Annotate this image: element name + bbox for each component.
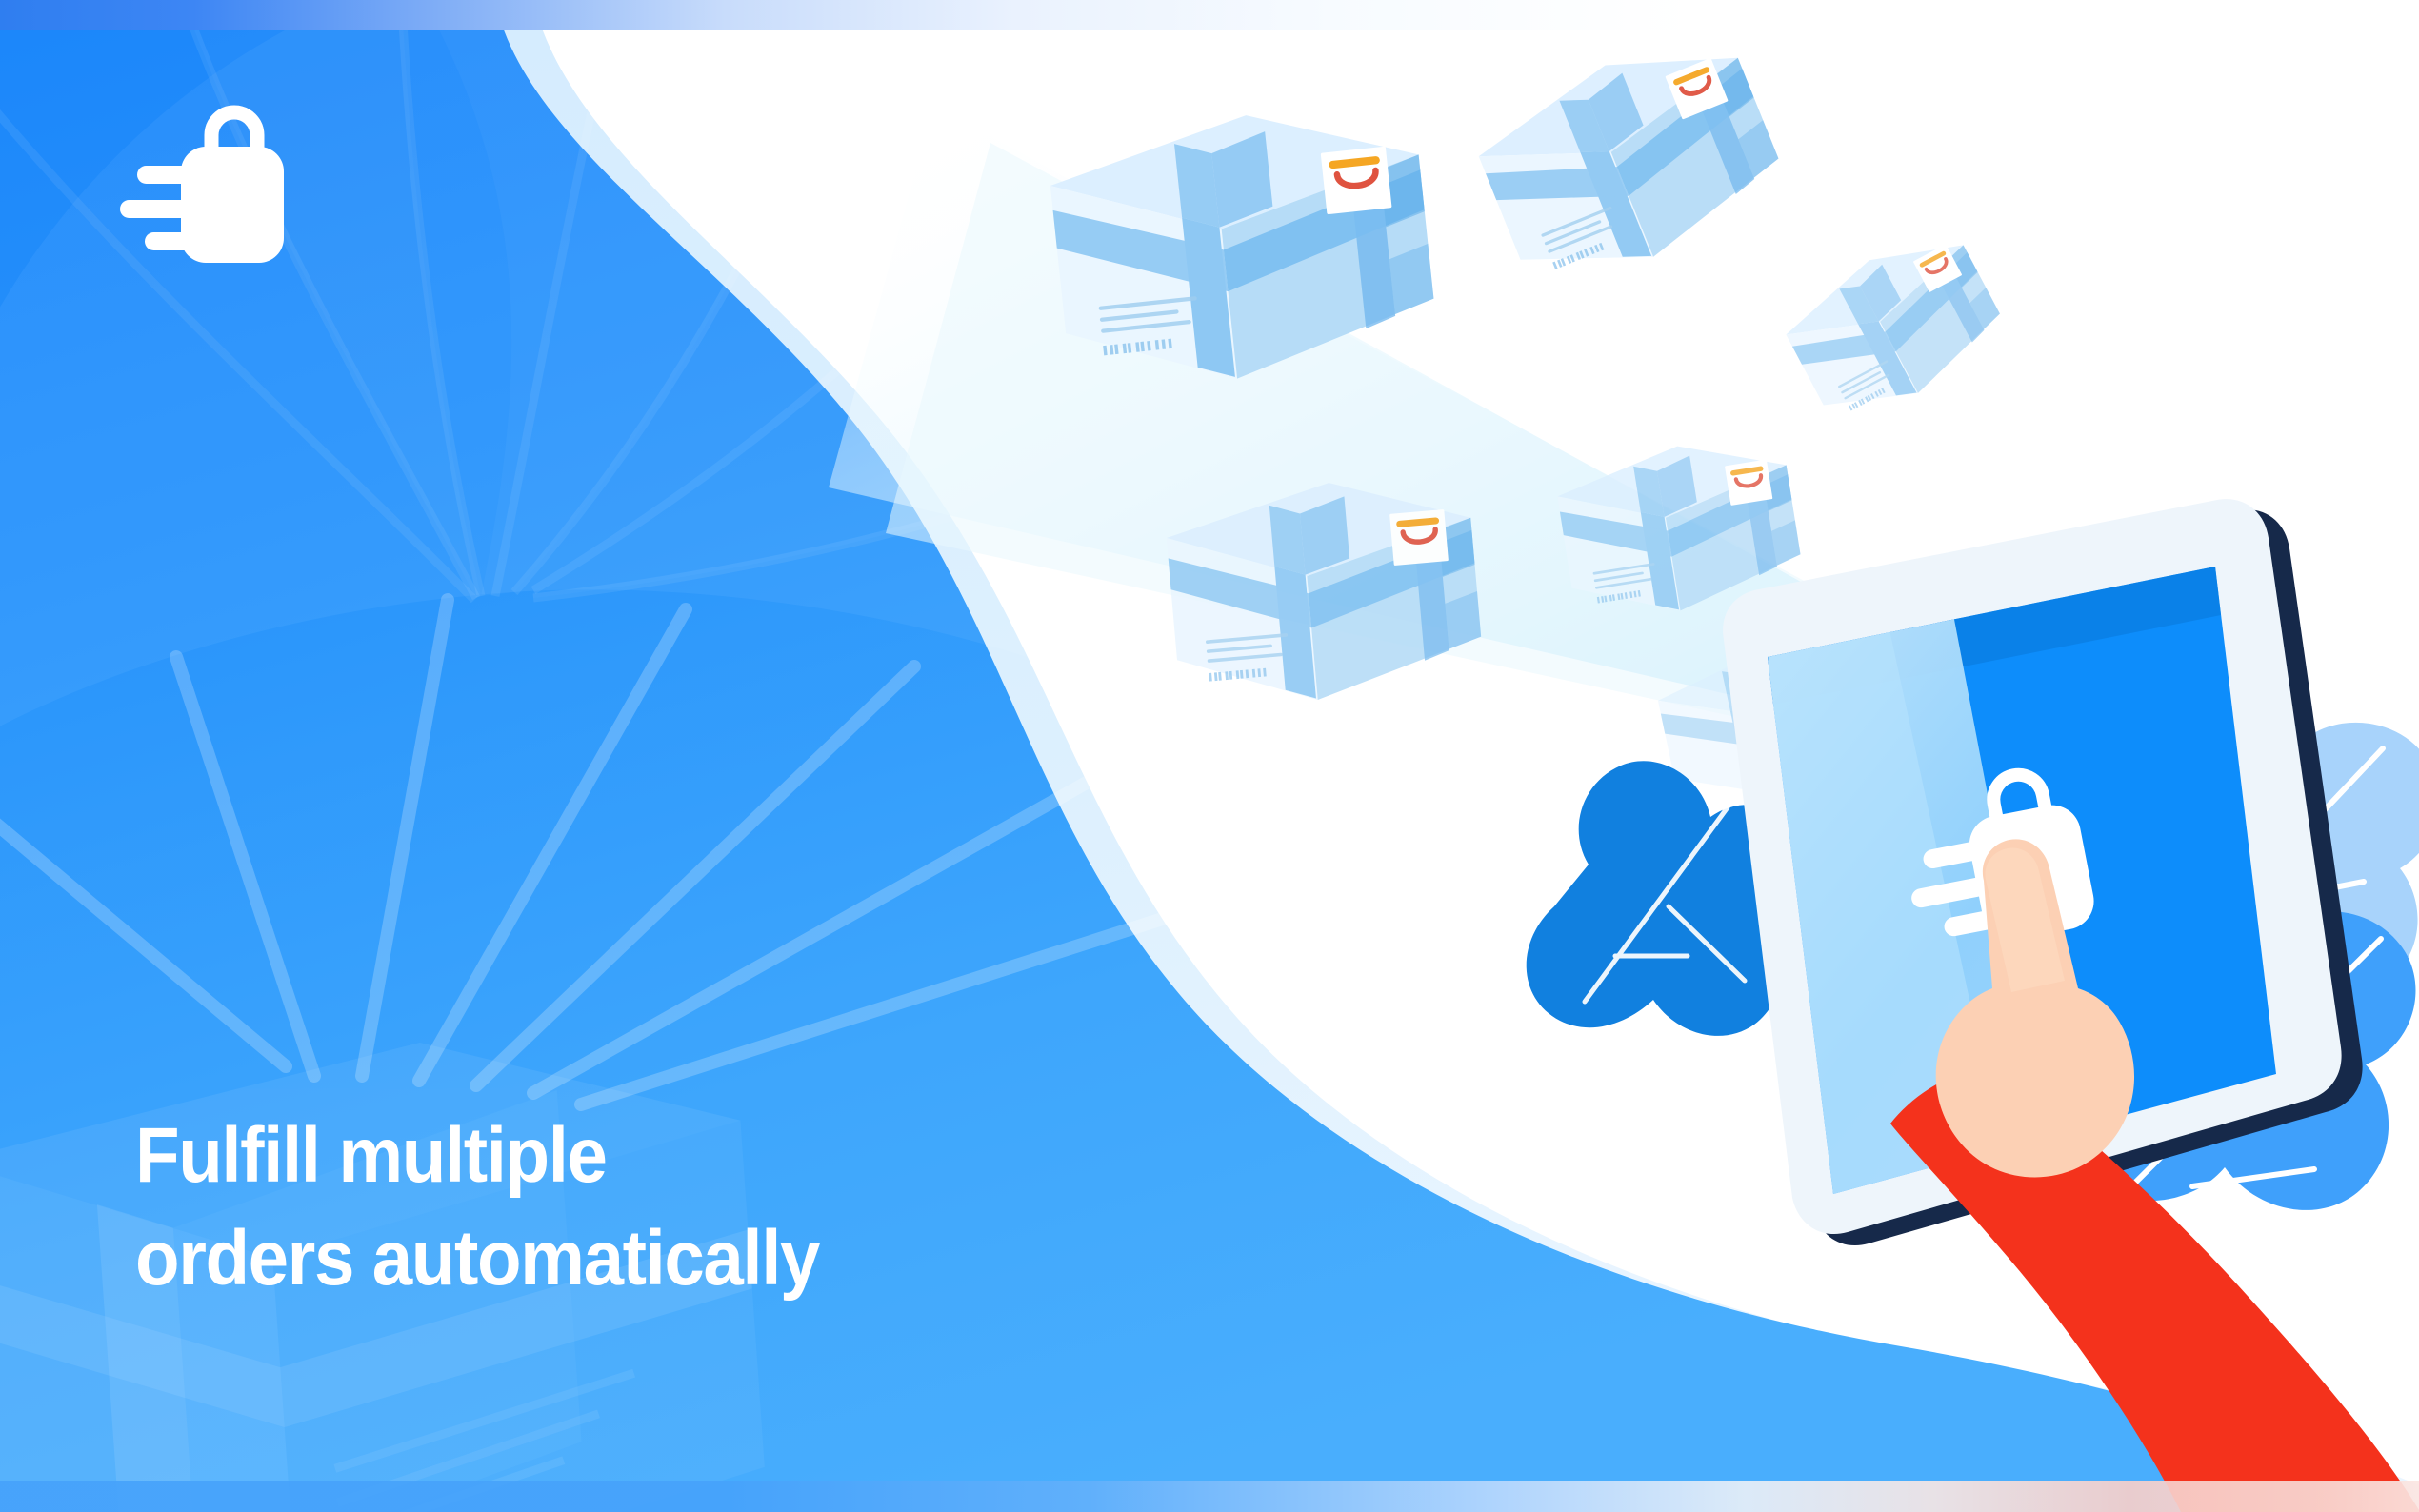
bottom-gradient-strip (0, 1481, 2419, 1512)
shopping-bag-speed-icon (120, 112, 284, 263)
top-gradient-strip (0, 0, 2419, 30)
promo-banner: Fulfill multiple orders automatically (0, 0, 2419, 1512)
brand-logo (124, 103, 305, 284)
headline-line-1: Fulfill multiple (135, 1104, 819, 1207)
page-title: Fulfill multiple orders automatically (135, 1104, 819, 1310)
hand-shape (1936, 839, 2134, 1177)
headline-line-2: orders automatically (135, 1207, 819, 1310)
